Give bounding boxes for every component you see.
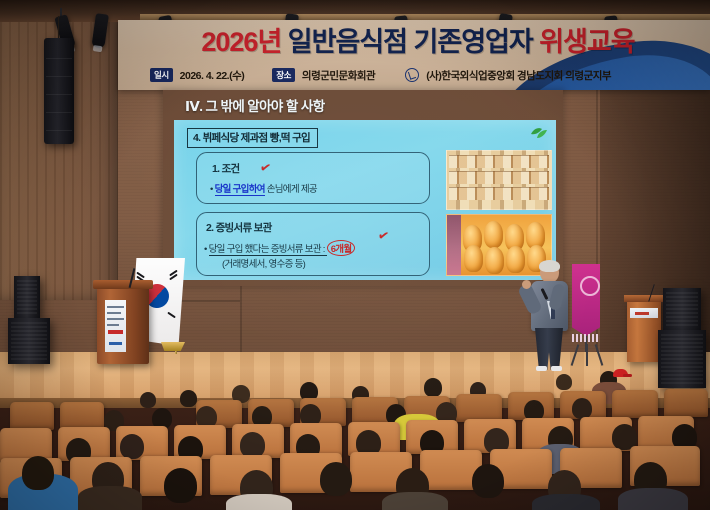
block1-heading: 1. 조건 [212,161,240,176]
banner-title-year: 2026년 [201,27,281,57]
flag-fringe [572,334,600,342]
banner-title: 2026년 일반음식점 기존영업자 위생교육 [128,23,708,61]
block1-bullet: • 당일 구입하여 손님에게 제공 [210,181,317,195]
banner-date-value: 2026. 4. 22.(수) [180,68,245,83]
bullet-mark: • [210,184,213,195]
audience-body [618,488,688,510]
bullet-circled-value: 6개월 [327,240,356,256]
seat [664,389,708,417]
slide-body: 4. 뷔페식당 제과점 빵,떡 구입 1. 조건 ✔ • 당일 구입하여 손님에… [174,120,556,280]
podium-top [624,295,664,302]
presenter-hand [522,280,531,289]
slide-section-header: 4. 뷔페식당 제과점 빵,떡 구입 [187,128,318,148]
audience-head [164,468,197,503]
banner-place-value: 의령군민문화회관 [302,68,375,83]
pa-speaker-sub [8,318,50,364]
podium-top [93,280,153,289]
block2-note: (거래명세서, 영수증 등) [222,256,305,270]
line-array-speaker [44,38,74,144]
organization-flag [570,264,604,366]
block2-heading: 2. 증빙서류 보관 [206,220,272,235]
presenter [527,262,571,370]
podium-sign [105,300,126,352]
audience-head [424,378,442,397]
presenter-shoe [551,366,562,371]
projection-screen: Ⅳ. 그 밖에 알아야 할 사항 4. 뷔페식당 제과점 빵,떡 구입 1. 조… [163,90,563,286]
leaf-decoration-icon [529,125,549,139]
bullet-rest: 손님에게 제공 [265,184,317,195]
audience-body [382,492,448,510]
banner-title-target: 기존영업자 [414,27,533,57]
organization-logo-icon [405,68,419,82]
banner-title-topic: 위생교육 [539,27,634,57]
slide-block-1 [196,152,430,204]
presenter-shoe [536,366,547,371]
audience-head [120,434,144,459]
seat [456,394,502,422]
presenter-trousers [535,328,563,370]
pa-speaker [663,288,701,330]
banner-subline: 일시 2026. 4. 22.(수) 장소 의령군민문화회관 (사)한국외식업중… [118,64,710,86]
event-banner: 2026년 일반음식점 기존영업자 위생교육 일시 2026. 4. 22.(수… [118,20,710,90]
audience-head [472,464,504,498]
seat [612,390,658,418]
flag-cloth [572,264,600,336]
presenter-hair [539,260,560,272]
bullet-pre: 당일 구입 했다는 증빙서류 보관 : [209,244,327,256]
auditorium-photo: 2026년 일반음식점 기존영업자 위생교육 일시 2026. 4. 22.(수… [0,0,710,510]
audience-head [320,462,352,496]
podium-right [627,300,661,362]
audience-body [78,486,142,510]
podium-left [97,286,149,364]
flag-tripod-stand [574,344,600,366]
flag-emblem [580,276,600,296]
slide-title: Ⅳ. 그 밖에 알아야 할 사항 [185,95,325,115]
audience-head [22,456,54,490]
podium-sign-accent [635,312,649,315]
audience-head [572,398,592,419]
banner-place-tag: 장소 [272,68,295,82]
flag-base-ornament [161,342,185,351]
banner-organizer: (사)한국외식업중앙회 경남도지회 의령군지부 [426,68,611,83]
audience-body-light [226,494,292,510]
pa-speaker-sub [658,330,706,388]
bakery-display-photo [446,150,552,210]
audience-head [180,390,197,407]
audience-head [556,374,572,390]
audience-body [532,494,600,510]
block2-bullet: • 당일 구입 했다는 증빙서류 보관 : 6개월 [204,240,355,256]
seat [10,402,54,430]
audience-head [140,392,156,408]
pa-speaker [14,276,40,318]
red-cap [613,369,628,377]
banner-date-tag: 일시 [150,68,173,82]
bullet-mark: • [204,244,207,255]
bullet-highlight: 당일 구입하여 [215,184,265,196]
banner-title-subject: 일반음식점 [288,27,407,57]
seat [60,402,104,430]
